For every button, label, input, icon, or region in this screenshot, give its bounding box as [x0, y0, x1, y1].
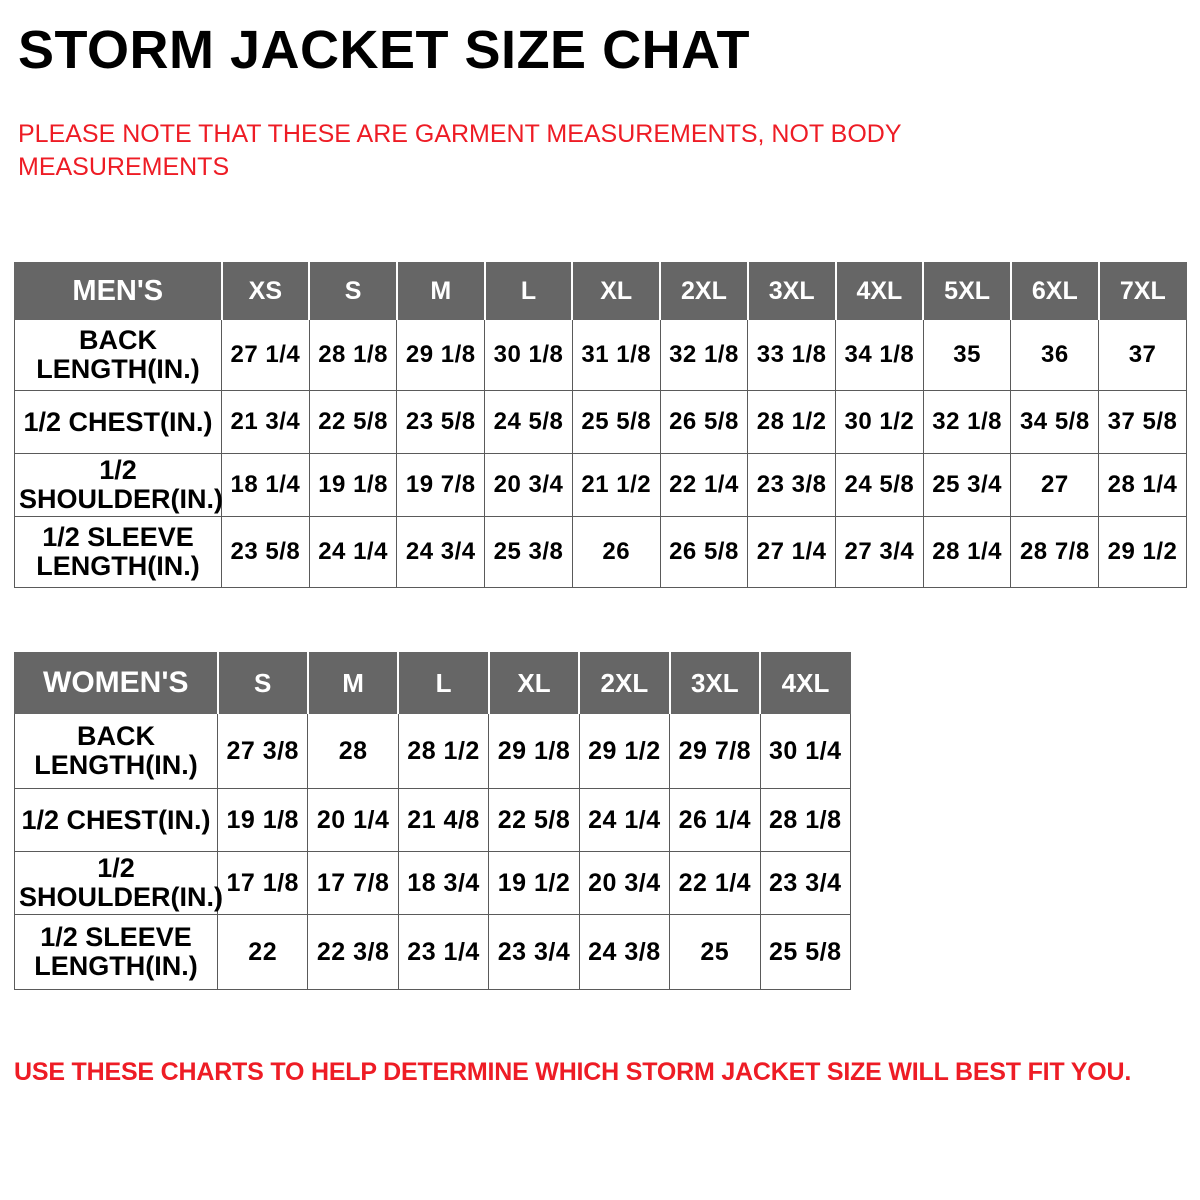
footer-note: USE THESE CHARTS TO HELP DETERMINE WHICH… [14, 1058, 1184, 1087]
measurement-cell: 27 3/8 [218, 714, 308, 789]
table-row: 1/2 CHEST(IN.)19 1/820 1/421 4/822 5/824… [15, 789, 851, 852]
measurement-cell: 24 1/4 [579, 789, 669, 852]
size-column-header-2xl: 2XL [579, 653, 669, 714]
measurement-cell: 30 1/2 [836, 391, 924, 454]
womens-table-body: BACKLENGTH(IN.)27 3/82828 1/229 1/829 1/… [15, 714, 851, 990]
measurement-cell: 25 3/8 [485, 517, 573, 588]
size-column-header-l: L [485, 263, 573, 320]
mens-table-header: MEN'S XSSMLXL2XL3XL4XL5XL6XL7XL [15, 263, 1187, 320]
measurement-cell: 21 3/4 [222, 391, 310, 454]
measurement-row-label: 1/2 SLEEVELENGTH(IN.) [15, 915, 218, 990]
table-row: 1/2 SHOULDER(IN.)17 1/817 7/818 3/419 1/… [15, 852, 851, 915]
measurement-cell: 24 3/4 [397, 517, 485, 588]
measurement-cell: 19 1/8 [309, 454, 397, 517]
size-column-header-2xl: 2XL [660, 263, 748, 320]
measurement-cell: 29 7/8 [670, 714, 760, 789]
measurement-cell: 20 1/4 [308, 789, 398, 852]
womens-size-table: WOMEN'S SMLXL2XL3XL4XL BACKLENGTH(IN.)27… [14, 652, 851, 990]
measurement-row-label-line1: 1/2 SLEEVE [19, 923, 213, 952]
measurement-cell: 28 1/2 [748, 391, 836, 454]
measurement-cell: 27 3/4 [836, 517, 924, 588]
measurement-cell: 19 7/8 [397, 454, 485, 517]
measurement-cell: 27 1/4 [222, 320, 310, 391]
size-column-header-7xl: 7XL [1099, 263, 1187, 320]
size-column-header-xl: XL [489, 653, 579, 714]
mens-corner-label: MEN'S [15, 263, 222, 320]
measurement-cell: 26 5/8 [660, 391, 748, 454]
measurement-cell: 26 1/4 [670, 789, 760, 852]
measurement-cell: 23 3/4 [760, 852, 850, 915]
measurement-cell: 30 1/4 [760, 714, 850, 789]
measurement-cell: 28 7/8 [1011, 517, 1099, 588]
measurement-cell: 29 1/2 [579, 714, 669, 789]
measurement-row-label-line1: BACK [19, 722, 213, 751]
size-column-header-xs: XS [222, 263, 310, 320]
size-column-header-m: M [308, 653, 398, 714]
size-column-header-4xl: 4XL [760, 653, 850, 714]
table-row: 1/2 SHOULDER(IN.)18 1/419 1/819 7/820 3/… [15, 454, 1187, 517]
measurement-cell: 24 3/8 [579, 915, 669, 990]
size-column-header-xl: XL [572, 263, 660, 320]
measurement-cell: 23 1/4 [398, 915, 488, 990]
measurement-cell: 28 1/4 [1099, 454, 1187, 517]
measurement-cell: 22 1/4 [660, 454, 748, 517]
measurement-row-label: BACKLENGTH(IN.) [15, 320, 222, 391]
measurement-cell: 21 1/2 [572, 454, 660, 517]
table-row: BACKLENGTH(IN.)27 3/82828 1/229 1/829 1/… [15, 714, 851, 789]
mens-size-table: MEN'S XSSMLXL2XL3XL4XL5XL6XL7XL BACKLENG… [14, 262, 1187, 588]
measurement-cell: 26 5/8 [660, 517, 748, 588]
measurement-cell: 32 1/8 [923, 391, 1011, 454]
womens-corner-label: WOMEN'S [15, 653, 218, 714]
size-column-header-l: L [398, 653, 488, 714]
measurement-cell: 28 1/8 [309, 320, 397, 391]
measurement-cell: 23 5/8 [222, 517, 310, 588]
measurement-cell: 29 1/8 [489, 714, 579, 789]
size-column-header-s: S [218, 653, 308, 714]
page-title: STORM JACKET SIZE CHAT [18, 22, 750, 79]
measurement-cell: 17 1/8 [218, 852, 308, 915]
measurement-cell: 22 [218, 915, 308, 990]
measurement-cell: 33 1/8 [748, 320, 836, 391]
measurement-cell: 28 [308, 714, 398, 789]
measurement-cell: 18 1/4 [222, 454, 310, 517]
measurement-cell: 19 1/8 [218, 789, 308, 852]
table-row: BACKLENGTH(IN.)27 1/428 1/829 1/830 1/83… [15, 320, 1187, 391]
table-row: 1/2 SLEEVELENGTH(IN.)23 5/824 1/424 3/42… [15, 517, 1187, 588]
measurement-row-label: 1/2 SHOULDER(IN.) [15, 852, 218, 915]
measurement-cell: 22 5/8 [489, 789, 579, 852]
measurement-cell: 28 1/8 [760, 789, 850, 852]
size-column-header-3xl: 3XL [670, 653, 760, 714]
measurement-cell: 28 1/4 [923, 517, 1011, 588]
measurement-cell: 27 1/4 [748, 517, 836, 588]
measurement-cell: 18 3/4 [398, 852, 488, 915]
measurement-cell: 34 1/8 [836, 320, 924, 391]
measurement-cell: 24 5/8 [485, 391, 573, 454]
measurement-cell: 22 1/4 [670, 852, 760, 915]
measurement-cell: 20 3/4 [485, 454, 573, 517]
size-column-header-6xl: 6XL [1011, 263, 1099, 320]
measurement-cell: 24 5/8 [836, 454, 924, 517]
womens-header-row: WOMEN'S SMLXL2XL3XL4XL [15, 653, 851, 714]
table-row: 1/2 CHEST(IN.)21 3/422 5/823 5/824 5/825… [15, 391, 1187, 454]
womens-table-header: WOMEN'S SMLXL2XL3XL4XL [15, 653, 851, 714]
measurement-row-label-line2: LENGTH(IN.) [19, 552, 217, 581]
measurement-cell: 37 5/8 [1099, 391, 1187, 454]
measurement-row-label-line2: LENGTH(IN.) [19, 355, 217, 384]
measurement-row-label-line1: 1/2 SLEEVE [19, 523, 217, 552]
size-column-header-5xl: 5XL [923, 263, 1011, 320]
measurement-row-label-line2: LENGTH(IN.) [19, 751, 213, 780]
measurement-cell: 22 3/8 [308, 915, 398, 990]
measurement-cell: 28 1/2 [398, 714, 488, 789]
size-chart-page: STORM JACKET SIZE CHAT PLEASE NOTE THAT … [0, 0, 1200, 1200]
size-column-header-3xl: 3XL [748, 263, 836, 320]
measurement-cell: 25 5/8 [760, 915, 850, 990]
measurement-row-label: 1/2 SLEEVELENGTH(IN.) [15, 517, 222, 588]
measurement-cell: 25 [670, 915, 760, 990]
measurement-cell: 20 3/4 [579, 852, 669, 915]
measurement-row-label: BACKLENGTH(IN.) [15, 714, 218, 789]
mens-table-body: BACKLENGTH(IN.)27 1/428 1/829 1/830 1/83… [15, 320, 1187, 588]
measurement-cell: 32 1/8 [660, 320, 748, 391]
measurement-cell: 25 5/8 [572, 391, 660, 454]
size-column-header-s: S [309, 263, 397, 320]
measurement-cell: 29 1/2 [1099, 517, 1187, 588]
measurement-row-label: 1/2 CHEST(IN.) [15, 789, 218, 852]
garment-measurement-note: PLEASE NOTE THAT THESE ARE GARMENT MEASU… [18, 118, 978, 184]
measurement-cell: 34 5/8 [1011, 391, 1099, 454]
measurement-row-label-line1: BACK [19, 326, 217, 355]
measurement-cell: 17 7/8 [308, 852, 398, 915]
table-row: 1/2 SLEEVELENGTH(IN.)2222 3/823 1/423 3/… [15, 915, 851, 990]
measurement-cell: 22 5/8 [309, 391, 397, 454]
measurement-cell: 26 [572, 517, 660, 588]
measurement-row-label-line2: LENGTH(IN.) [19, 952, 213, 981]
measurement-cell: 35 [923, 320, 1011, 391]
measurement-cell: 21 4/8 [398, 789, 488, 852]
measurement-cell: 25 3/4 [923, 454, 1011, 517]
measurement-cell: 24 1/4 [309, 517, 397, 588]
measurement-cell: 23 5/8 [397, 391, 485, 454]
measurement-cell: 23 3/8 [748, 454, 836, 517]
measurement-row-label: 1/2 SHOULDER(IN.) [15, 454, 222, 517]
measurement-cell: 27 [1011, 454, 1099, 517]
measurement-cell: 30 1/8 [485, 320, 573, 391]
measurement-cell: 37 [1099, 320, 1187, 391]
measurement-cell: 36 [1011, 320, 1099, 391]
measurement-cell: 29 1/8 [397, 320, 485, 391]
measurement-cell: 31 1/8 [572, 320, 660, 391]
measurement-row-label: 1/2 CHEST(IN.) [15, 391, 222, 454]
size-column-header-4xl: 4XL [836, 263, 924, 320]
size-column-header-m: M [397, 263, 485, 320]
mens-header-row: MEN'S XSSMLXL2XL3XL4XL5XL6XL7XL [15, 263, 1187, 320]
measurement-cell: 23 3/4 [489, 915, 579, 990]
measurement-cell: 19 1/2 [489, 852, 579, 915]
